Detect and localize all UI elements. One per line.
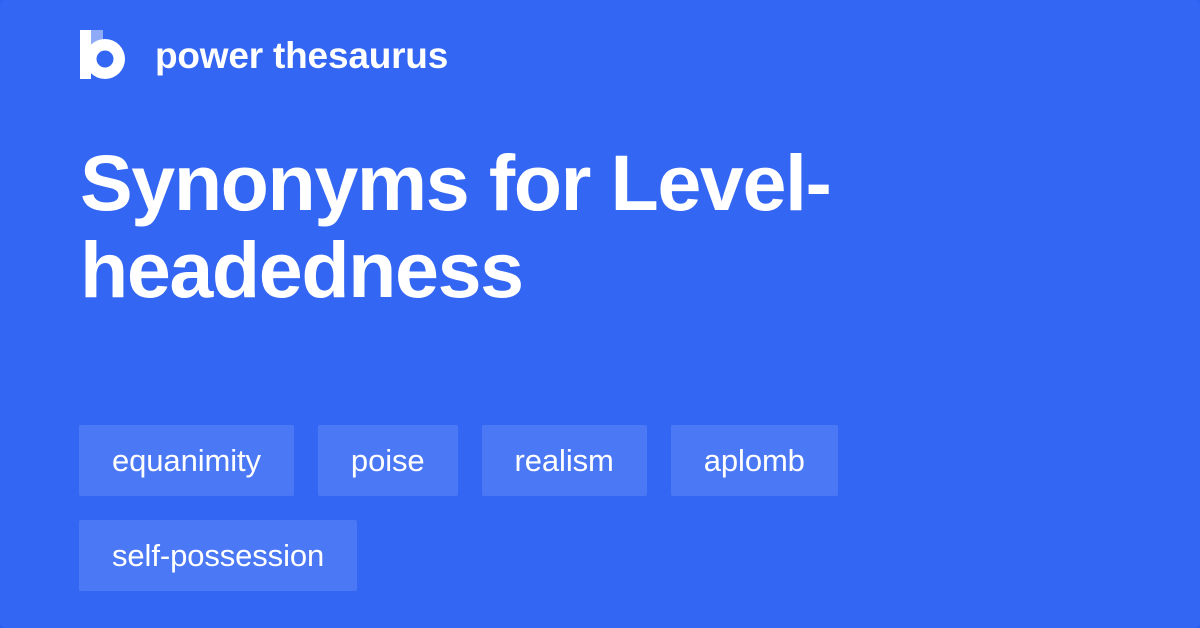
synonym-tag-list: equanimity poise realism aplomb self-pos…: [79, 425, 1129, 591]
synonym-tag[interactable]: self-possession: [79, 520, 357, 591]
power-thesaurus-b-logo-icon: [80, 30, 126, 80]
synonym-tag[interactable]: aplomb: [671, 425, 838, 496]
brand-name: power thesaurus: [155, 37, 448, 74]
page-title: Synonyms for Level-headedness: [80, 140, 980, 314]
share-card: power thesaurus Synonyms for Level-heade…: [0, 0, 1200, 628]
synonym-tag[interactable]: realism: [482, 425, 647, 496]
synonym-tag[interactable]: poise: [318, 425, 458, 496]
synonym-tag[interactable]: equanimity: [79, 425, 294, 496]
brand-header[interactable]: power thesaurus: [80, 28, 448, 82]
